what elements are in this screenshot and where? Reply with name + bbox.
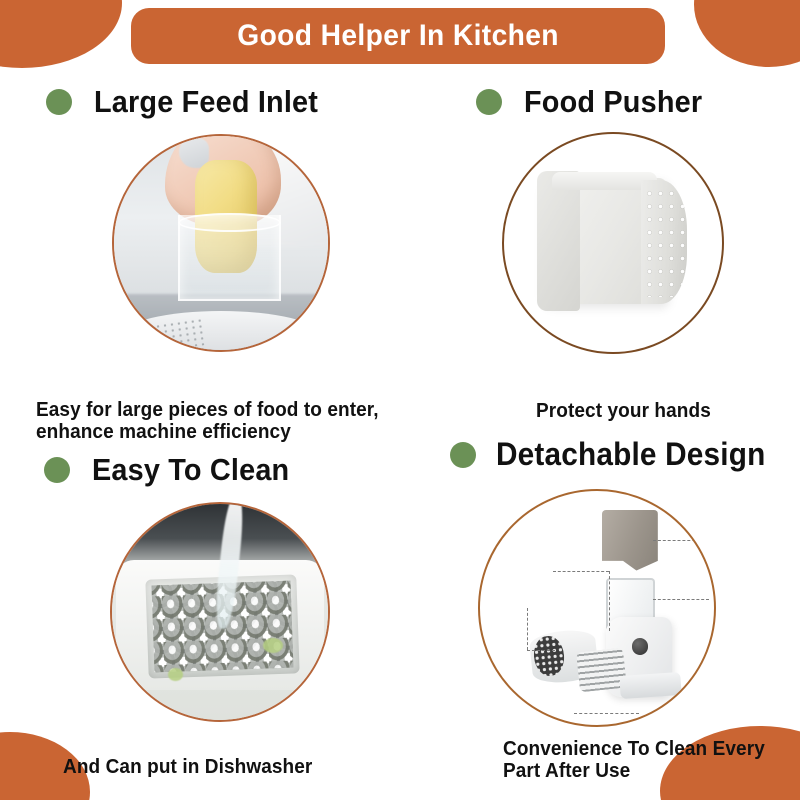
feature-photo-detachable-design	[478, 489, 716, 727]
page-title: Good Helper In Kitchen	[237, 19, 559, 53]
feature-heading-row: Easy To Clean	[0, 452, 440, 488]
callout-line	[527, 650, 555, 651]
feature-photo-wrap	[432, 489, 800, 727]
bullet-dot-icon	[44, 457, 70, 483]
pusher-grip-face	[641, 180, 687, 304]
part-hopper	[602, 510, 658, 571]
feature-caption: And Can put in Dishwasher	[63, 757, 405, 779]
bullet-dot-icon	[450, 442, 476, 468]
feature-card-easy-to-clean: Easy To Clean	[0, 452, 440, 722]
bullet-dot-icon	[46, 89, 72, 115]
feature-heading-row: Large Feed Inlet	[0, 84, 440, 120]
callout-line	[553, 571, 609, 572]
pusher-dimple-texture	[644, 187, 685, 296]
feature-heading-row: Detachable Design	[432, 436, 800, 473]
feature-photo-wrap	[440, 132, 800, 354]
feature-card-large-feed-inlet: Large Feed Inlet	[0, 84, 440, 352]
callout-line	[527, 608, 528, 650]
bullet-dot-icon	[476, 89, 502, 115]
feature-heading: Large Feed Inlet	[94, 84, 318, 120]
callout-line	[574, 713, 640, 714]
feature-card-detachable-design: Detachable Design	[432, 436, 800, 727]
feature-photo-wrap	[0, 502, 440, 722]
callout-line	[609, 571, 610, 632]
feature-heading: Detachable Design	[496, 436, 765, 473]
corner-blob-top-right-icon	[694, 0, 800, 67]
feature-caption: Protect your hands	[536, 401, 783, 423]
corner-blob-top-left-icon	[0, 0, 122, 68]
callout-line	[653, 540, 704, 541]
feature-caption: Convenience To Clean Every Part After Us…	[503, 739, 779, 782]
infographic-page: Good Helper In Kitchen Large Feed Inlet	[0, 0, 800, 800]
callout-line	[653, 599, 709, 600]
pusher-side-rail	[537, 171, 581, 311]
part-base-stand	[620, 671, 682, 699]
feature-photo-easy-to-clean	[110, 502, 330, 722]
feature-photo-large-feed-inlet	[112, 134, 330, 352]
feature-heading: Easy To Clean	[92, 452, 289, 488]
feature-heading-row: Food Pusher	[440, 84, 800, 120]
feature-caption: Easy for large pieces of food to enter, …	[36, 400, 445, 443]
feature-heading: Food Pusher	[524, 84, 702, 120]
feature-card-food-pusher: Food Pusher	[440, 84, 800, 354]
feature-photo-food-pusher	[502, 132, 724, 354]
title-banner: Good Helper In Kitchen	[131, 8, 665, 64]
feature-photo-wrap	[0, 134, 440, 352]
vegetable-residue	[263, 638, 282, 653]
